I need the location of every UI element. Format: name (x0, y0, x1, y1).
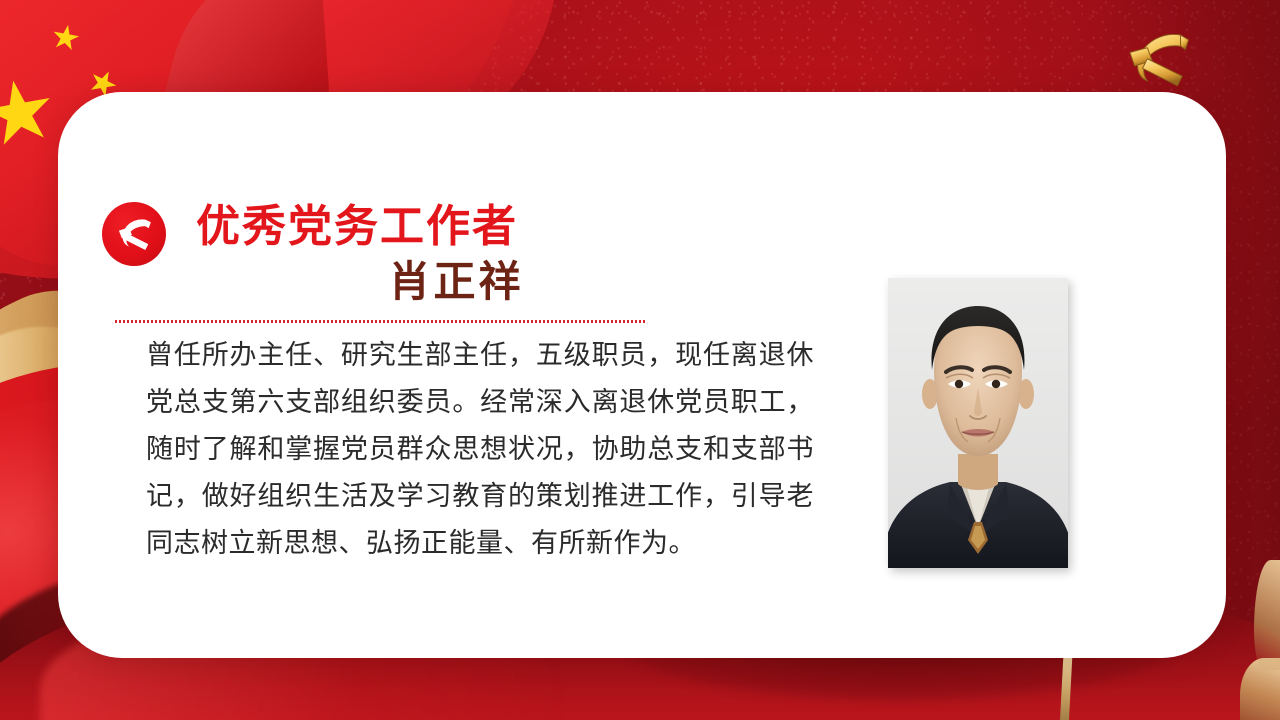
person-name: 肖正祥 (196, 256, 716, 310)
flag-star-small-1 (51, 23, 81, 53)
content-card: 优秀党务工作者 肖正祥 曾任所办主任、研究生部主任，五级职员，现任离退休党总支第… (58, 92, 1226, 658)
slide-root: 优秀党务工作者 肖正祥 曾任所办主任、研究生部主任，五级职员，现任离退休党总支第… (0, 0, 1280, 720)
party-emblem-hammer-sickle-gold-icon (1112, 24, 1208, 100)
dotted-divider (115, 320, 647, 323)
party-emblem-hammer-sickle-icon (102, 202, 166, 266)
flag-star-large (0, 75, 57, 151)
biography-text: 曾任所办主任、研究生部主任，五级职员，现任离退休党总支第六支部组织委员。经常深入… (146, 332, 814, 567)
portrait-photo (888, 278, 1068, 568)
page-title: 优秀党务工作者 (196, 199, 518, 255)
